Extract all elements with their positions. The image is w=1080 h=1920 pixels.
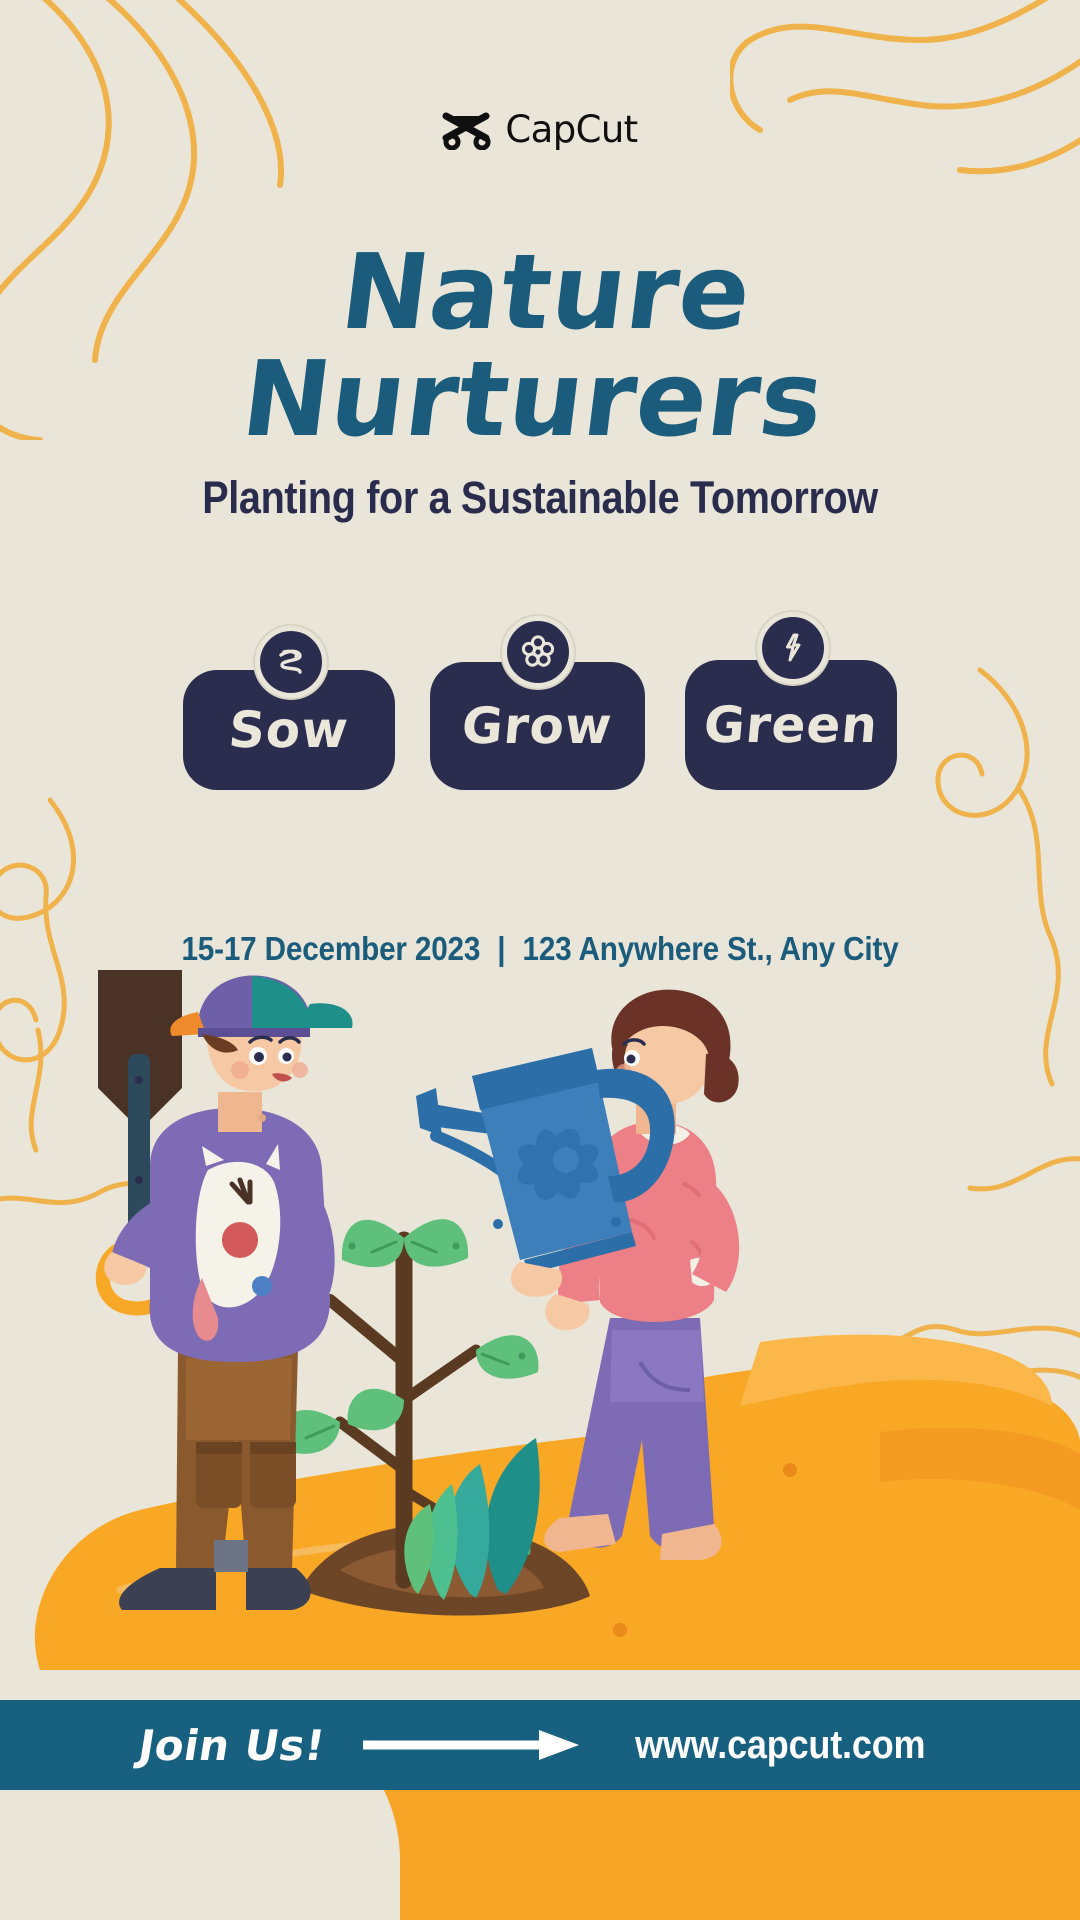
feature-pill-group: Sow Grow — [0, 640, 1080, 780]
right-arrow-icon — [361, 1728, 583, 1762]
event-dates: 15-17 December 2023 — [181, 930, 480, 967]
capcut-scissors-icon — [442, 110, 498, 150]
pill-sow-label: Sow — [227, 701, 352, 759]
brand-logo: CapCut — [0, 108, 1080, 151]
squiggle-seed-icon — [255, 626, 327, 698]
join-us-label: Join Us! — [135, 1721, 328, 1770]
event-venue: 123 Anywhere St., Any City — [522, 930, 898, 967]
pill-sow-wrapper: Sow — [183, 670, 395, 790]
flower-icon — [502, 616, 574, 688]
footer-cta-bar: Join Us! www.capcut.com — [0, 1700, 1080, 1790]
poster-canvas: CapCut Nature Nurturers Planting for a S… — [0, 0, 1080, 1920]
pill-grow-wrapper: Grow — [430, 662, 645, 790]
page-title: Nature Nurturers — [0, 242, 1080, 450]
page-subtitle: Planting for a Sustainable Tomorrow — [65, 472, 1015, 524]
pill-grow-label: Grow — [460, 697, 615, 755]
sprout-bolt-icon — [757, 612, 829, 684]
page-title-line-2: Nurturers — [0, 349, 1080, 450]
page-title-line-1: Nature — [0, 242, 1080, 343]
hero-illustration — [0, 970, 1080, 1710]
pill-green-wrapper: Green — [685, 660, 897, 790]
brand-logo-text: CapCut — [505, 108, 637, 151]
event-separator: | — [488, 930, 514, 967]
event-details: 15-17 December 2023 | 123 Anywhere St., … — [54, 930, 1026, 968]
pill-green-label: Green — [701, 696, 880, 754]
website-url[interactable]: www.capcut.com — [635, 1723, 925, 1768]
